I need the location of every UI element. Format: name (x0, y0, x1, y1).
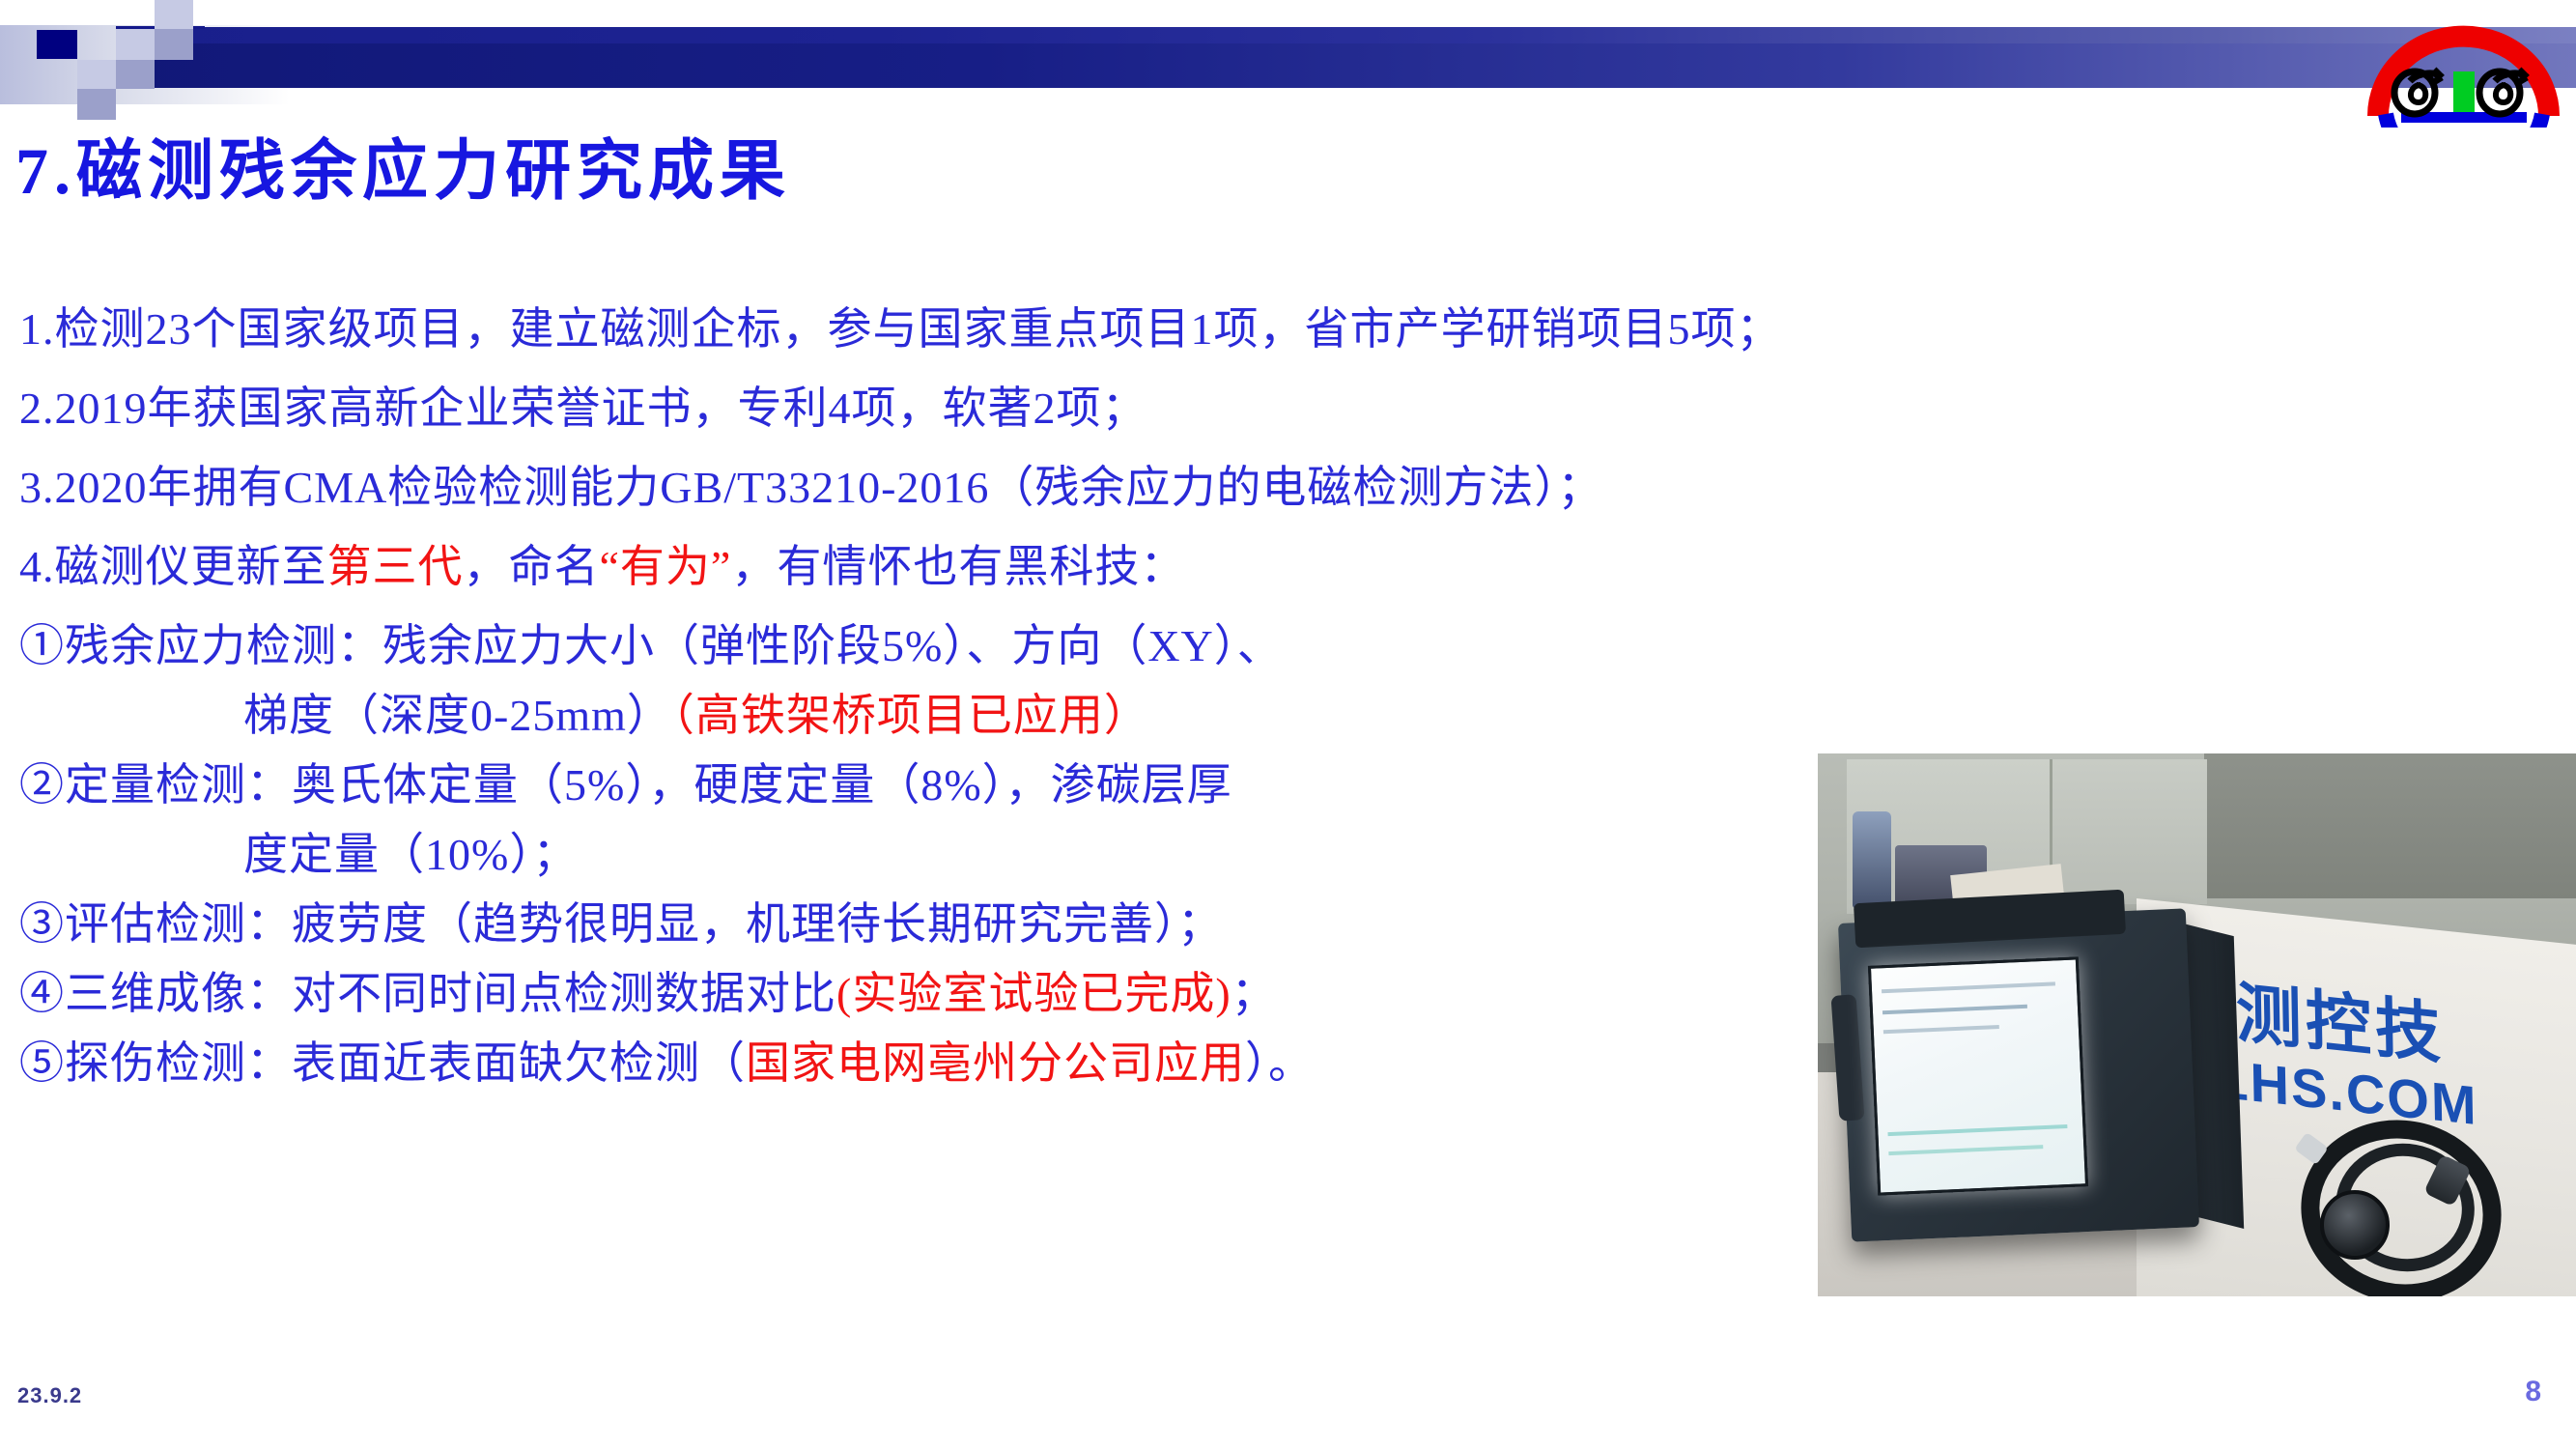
list-item-4-number: 4. (19, 542, 55, 591)
list-item-4-part3: ，有情怀也有黑科技： (731, 542, 1185, 591)
photo-device-screen (1868, 956, 2088, 1195)
page-number: 8 (2525, 1376, 2541, 1408)
list-item-1-text: 检测23个国家级项目，建立磁测企标，参与国家重点项目1项，省市产学研销项目5项； (55, 304, 1782, 354)
sub-item-5-tail: ）。 (1245, 1038, 1314, 1088)
photo-screen-line (1887, 1124, 2067, 1136)
list-item-3-text: 2020年拥有CMA检验检测能力GB/T33210-2016（残余应力的电磁检测… (55, 463, 1603, 512)
list-item-1: 1.检测23个国家级项目，建立磁测企标，参与国家重点项目1项，省市产学研销项目5… (19, 307, 1782, 352)
sub-item-4-marker: ④ (19, 969, 65, 1018)
instrument-photo: 顺测控技 .521HS.COM (1818, 753, 2576, 1296)
sub-item-1-text: 残余应力大小（弹性阶段5%）、方向（XY）、 (382, 621, 1283, 670)
sub-item-2-text: 奥氏体定量（5%），硬度定量（8%），渗碳层厚 (292, 760, 1232, 810)
sub-item-3: ③评估检测：疲劳度（趋势很明显，机理待长期研究完善）； (19, 902, 1223, 947)
sub-item-2-cont-text: 度定量（10%）； (243, 830, 578, 879)
sub-item-5-label: 探伤检测： (65, 1038, 292, 1088)
sub-item-2-continuation: 度定量（10%）； (243, 833, 578, 877)
sub-item-3-text: 疲劳度（趋势很明显，机理待长期研究完善）； (292, 899, 1223, 949)
sub-item-1-cont-highlight: （高铁架桥项目已应用） (672, 691, 1149, 740)
sub-item-4-highlight: (实验室试验已完成) (836, 969, 1231, 1018)
sub-item-4: ④三维成像：对不同时间点检测数据对比(实验室试验已完成)； (19, 972, 1277, 1016)
list-item-4-part1: 磁测仪更新至 (55, 542, 327, 591)
photo-wall-dark (2204, 753, 2576, 898)
photo-screen-line (1888, 1145, 2043, 1155)
sub-item-4-text: 对不同时间点检测数据对比 (292, 969, 836, 1018)
photo-screen-line (1883, 1025, 1999, 1034)
slide-date: 23.9.2 (17, 1383, 82, 1408)
sub-item-1: ①残余应力检测：残余应力大小（弹性阶段5%）、方向（XY）、 (19, 624, 1283, 668)
slide-root: 7.磁测残余应力研究成果 1.检测23个国家级项目，建立磁测企标，参与国家重点项… (0, 0, 2576, 1449)
photo-screen-line (1882, 1005, 2027, 1015)
list-item-4-highlight-name: “有为” (600, 542, 732, 591)
photo-cable-connector (2320, 1190, 2390, 1260)
list-item-4-part2: ，命名 (464, 542, 600, 591)
list-item-3: 3.2020年拥有CMA检验检测能力GB/T33210-2016（残余应力的电磁… (19, 466, 1602, 510)
list-item-2-text: 2019年获国家高新企业荣誉证书，专利4项，软著2项； (55, 384, 1147, 433)
photo-bottle (1853, 811, 1891, 908)
photo-screen-line (1882, 981, 2055, 993)
sub-item-2-label: 定量检测： (65, 760, 292, 810)
sub-item-2-marker: ② (19, 760, 65, 810)
list-item-4: 4.磁测仪更新至第三代，命名“有为”，有情怀也有黑科技： (19, 545, 1185, 589)
sub-item-5-text: 表面近表面缺欠检测（ (292, 1038, 746, 1088)
sub-item-1-cont-text: 梯度（深度0-25mm） (243, 691, 672, 740)
sub-item-5-marker: ⑤ (19, 1038, 65, 1088)
list-item-2-number: 2. (19, 384, 55, 433)
sub-item-1-continuation: 梯度（深度0-25mm）（高铁架桥项目已应用） (243, 694, 1149, 738)
sub-item-5-highlight: 国家电网亳州分公司应用 (746, 1038, 1245, 1088)
list-item-4-highlight-generation: 第三代 (327, 542, 464, 591)
list-item-1-number: 1. (19, 304, 55, 354)
photo-door-right (2052, 759, 2207, 904)
sub-item-5: ⑤探伤检测：表面近表面缺欠检测（国家电网亳州分公司应用）。 (19, 1041, 1314, 1086)
sub-item-1-marker: ① (19, 621, 65, 670)
sub-item-2: ②定量检测：奥氏体定量（5%），硬度定量（8%），渗碳层厚 (19, 763, 1232, 808)
list-item-2: 2.2019年获国家高新企业荣誉证书，专利4项，软著2项； (19, 386, 1147, 431)
sub-item-3-label: 评估检测： (65, 899, 292, 949)
sub-item-3-marker: ③ (19, 899, 65, 949)
sub-item-4-label: 三维成像： (65, 969, 292, 1018)
sub-item-1-label: 残余应力检测： (65, 621, 382, 670)
list-item-3-number: 3. (19, 463, 55, 512)
sub-item-4-tail: ； (1231, 969, 1277, 1018)
